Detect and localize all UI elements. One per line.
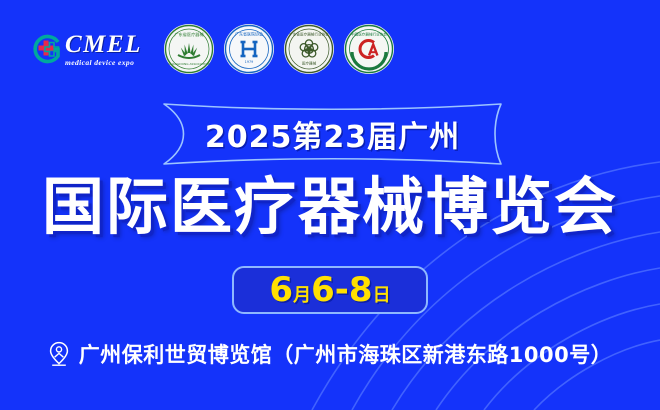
svg-text:医疗器械: 医疗器械: [302, 61, 317, 66]
svg-text:广东省医院协会: 广东省医院协会: [235, 31, 263, 37]
date-badge-text: 6 月 6 - 8 日: [269, 273, 390, 307]
date-day-start: 6: [311, 273, 335, 307]
medical-device-institute-seal: 广东省医疗器械行业协会 医疗器械: [284, 24, 334, 74]
date-day-unit: 日: [373, 287, 391, 305]
date-badge: 6 月 6 - 8 日: [232, 266, 428, 314]
cmel-wordmark: CMEL: [65, 32, 142, 57]
cmel-logo: CMEL medical device expo: [28, 32, 142, 67]
cmel-g-cross-mark: [28, 32, 62, 66]
logo-strip: CMEL medical device expo 广东省医疗器械 GUANGDO…: [28, 22, 394, 76]
date-dash: -: [335, 273, 349, 307]
cmel-tagline: medical device expo: [65, 59, 142, 67]
ribbon-label: 2025第23届广州: [160, 100, 505, 168]
date-day-end: 8: [349, 273, 373, 307]
svg-text:1979: 1979: [245, 60, 254, 64]
hospital-association-seal: 广东省医院协会 1979: [224, 24, 274, 74]
svg-text:GUANGDONG ASSOCIATION: GUANGDONG ASSOCIATION: [168, 62, 210, 66]
exhibition-poster: CMEL medical device expo 广东省医疗器械 GUANGDO…: [0, 0, 660, 410]
date-month-number: 6: [269, 273, 293, 307]
svg-text:中国医疗器械行业协会: 中国医疗器械行业协会: [351, 32, 387, 37]
svg-text:广东省医疗器械: 广东省医疗器械: [174, 31, 204, 38]
cmel-wordmark-block: CMEL medical device expo: [65, 32, 142, 67]
venue-text: 广州保利世贸博览馆（广州市海珠区新港东路1000号）: [79, 339, 612, 369]
page-title: 国际医疗器械博览会: [0, 176, 660, 238]
guangdong-association-seal: 广东省医疗器械 GUANGDONG ASSOCIATION: [164, 24, 214, 74]
date-month-unit: 月: [293, 287, 311, 305]
ribbon-banner: 2025第23届广州: [160, 100, 505, 168]
ca-association-seal: 中国医疗器械行业协会: [344, 24, 394, 74]
svg-text:广东省医疗器械行业协会: 广东省医疗器械行业协会: [289, 32, 329, 37]
location-pin-icon: [48, 341, 70, 367]
venue-line: 广州保利世贸博览馆（广州市海珠区新港东路1000号）: [0, 339, 660, 369]
